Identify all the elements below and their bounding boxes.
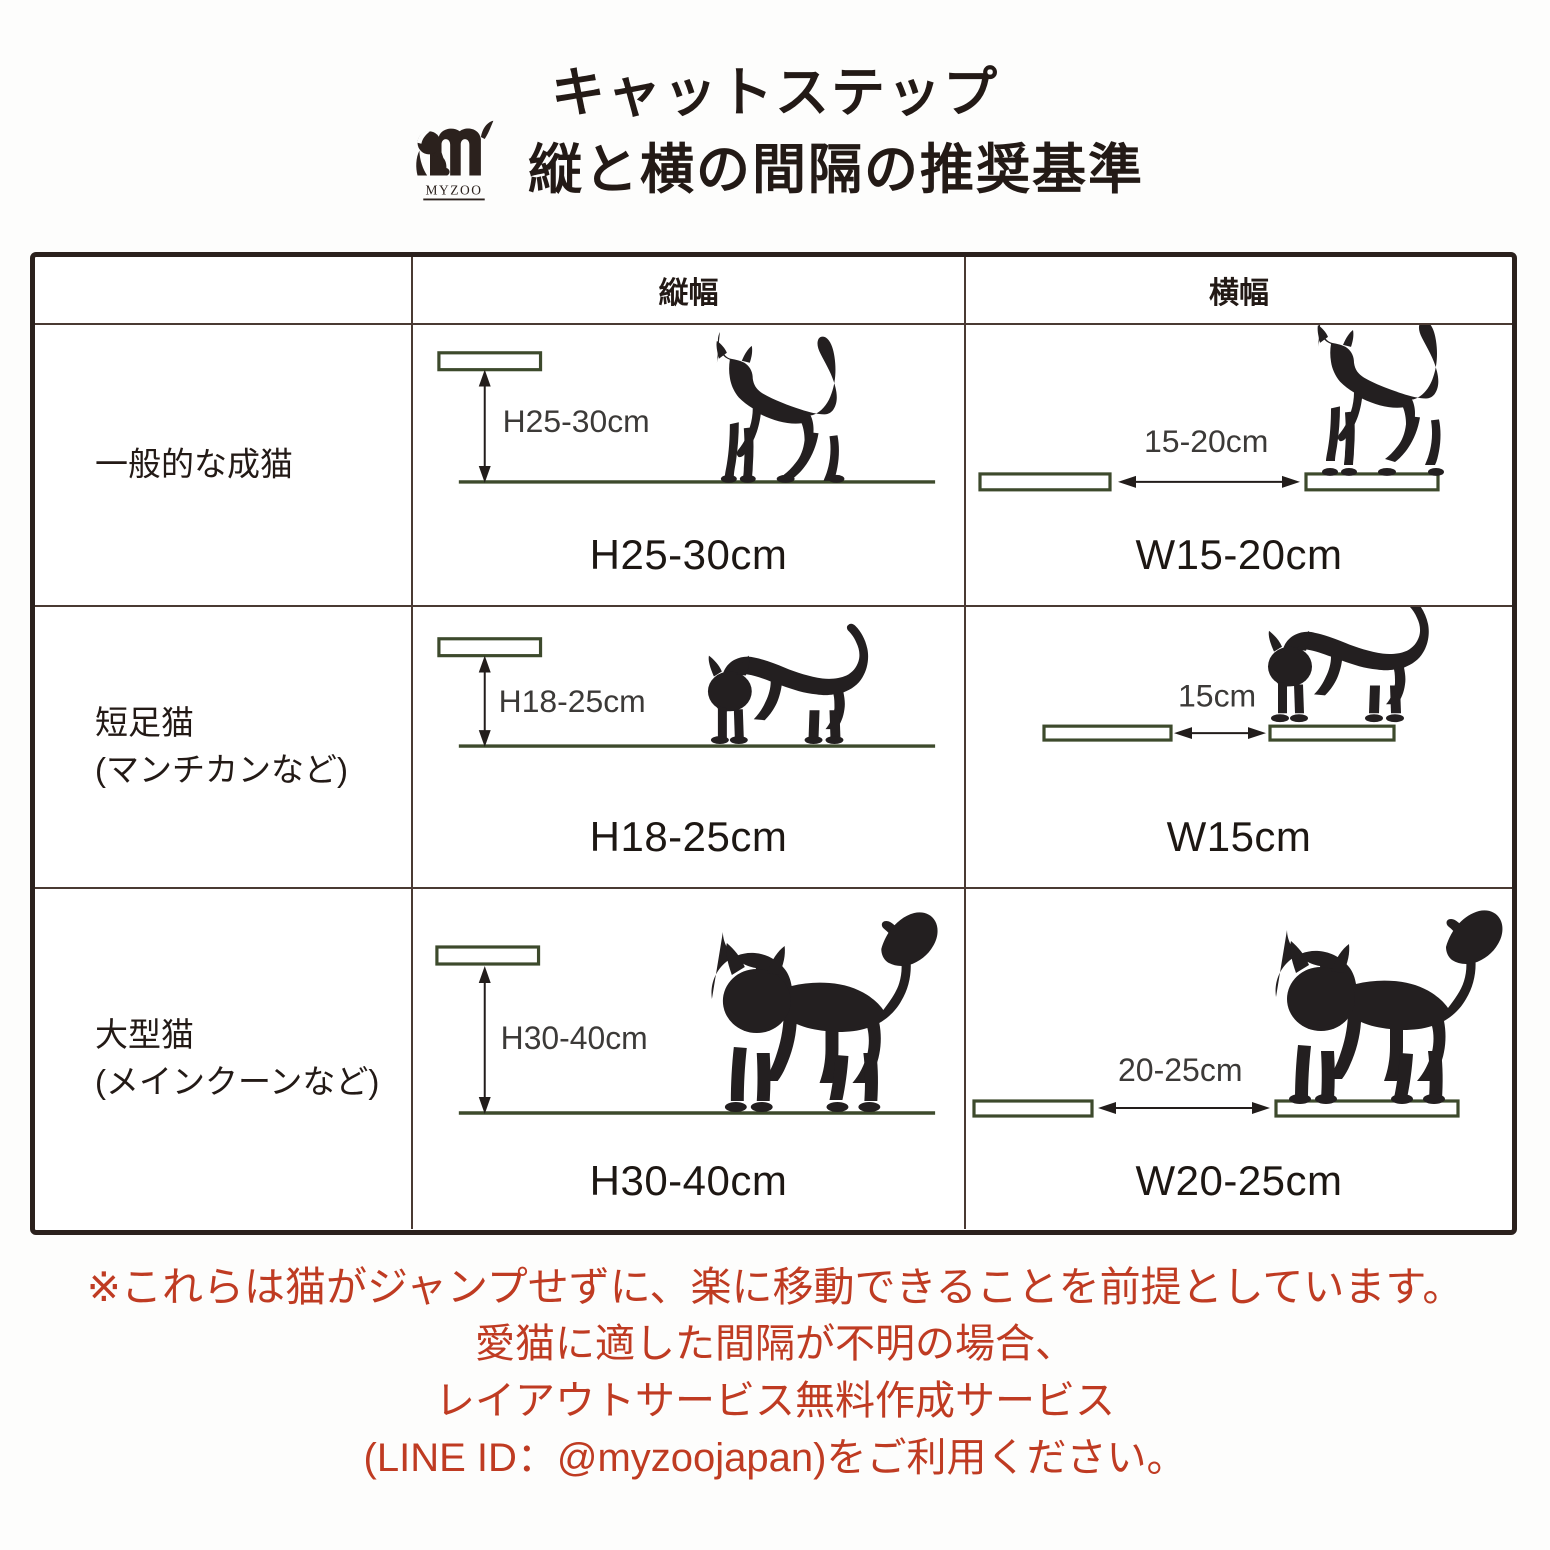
- header-label-vertical: 縦幅: [413, 257, 964, 323]
- svg-text:MYZOO: MYZOO: [426, 183, 483, 198]
- row-label-cell-3: 大型猫 (メインクーンなど): [35, 889, 413, 1229]
- horizontal-diagram-cell-3: 20-25cm W20-25cm: [966, 889, 1512, 1229]
- footer-note-line2: 愛猫に適した間隔が不明の場合、: [0, 1316, 1550, 1373]
- horizontal-caption-1: W15-20cm: [966, 531, 1512, 579]
- header-label-horizontal: 横幅: [966, 257, 1512, 323]
- recommendation-table: 縦幅 横幅 一般的な成猫: [30, 252, 1517, 1235]
- svg-text:H25-30cm: H25-30cm: [503, 403, 650, 439]
- header-cell-blank: [35, 257, 413, 323]
- svg-text:15cm: 15cm: [1178, 677, 1256, 713]
- svg-text:20-25cm: 20-25cm: [1118, 1052, 1243, 1088]
- footer-note-line4: (LINE ID：@myzoojapan)をご利用ください。: [0, 1430, 1550, 1487]
- svg-text:H18-25cm: H18-25cm: [499, 683, 646, 719]
- table-row: 大型猫 (メインクーンなど): [35, 889, 1512, 1229]
- horizontal-caption-3: W20-25cm: [966, 1157, 1512, 1205]
- footer-note-line3: レイアウトサービス無料作成サービス: [0, 1373, 1550, 1430]
- horizontal-diagram-cell-1: 15-20cm W15-20cm: [966, 325, 1512, 605]
- header: キャットステップ MYZOO 縦と横の間隔の推奨基準: [0, 0, 1550, 240]
- row-label-2: 短足猫 (マンチカンなど): [95, 700, 348, 794]
- horizontal-caption-2: W15cm: [966, 813, 1512, 861]
- row-label-cell-2: 短足猫 (マンチカンなど): [35, 607, 413, 887]
- page-title-line2: 縦と横の間隔の推奨基準: [528, 125, 1144, 204]
- row-label-3: 大型猫 (メインクーンなど): [95, 1012, 379, 1106]
- vertical-diagram-cell-1: H25-30cm H25-30cm: [413, 325, 966, 605]
- table-row: 短足猫 (マンチカンなど): [35, 607, 1512, 889]
- header-cell-horizontal: 横幅: [966, 257, 1512, 323]
- page-title-line1: キャットステップ: [0, 48, 1550, 127]
- footer-note-line1: ※これらは猫がジャンプせずに、楽に移動できることを前提としています。: [0, 1258, 1550, 1316]
- myzoo-logo: MYZOO: [406, 114, 502, 210]
- table-header-row: 縦幅 横幅: [35, 257, 1512, 325]
- horizontal-diagram-cell-2: 15cm W15cm: [966, 607, 1512, 887]
- vertical-diagram-cell-2: H18-25cm H18-25cm: [413, 607, 966, 887]
- header-cell-vertical: 縦幅: [413, 257, 966, 323]
- table-row: 一般的な成猫: [35, 325, 1512, 607]
- title-row: MYZOO 縦と横の間隔の推奨基準: [0, 118, 1550, 210]
- svg-text:15-20cm: 15-20cm: [1144, 423, 1268, 459]
- svg-text:H30-40cm: H30-40cm: [501, 1020, 648, 1056]
- footer-note: ※これらは猫がジャンプせずに、楽に移動できることを前提としています。 愛猫に適し…: [0, 1258, 1550, 1487]
- vertical-diagram-cell-3: H30-40cm H30-40cm: [413, 889, 966, 1229]
- vertical-caption-2: H18-25cm: [413, 813, 964, 861]
- vertical-caption-1: H25-30cm: [413, 531, 964, 579]
- row-label-1: 一般的な成猫: [95, 442, 293, 489]
- row-label-cell-1: 一般的な成猫: [35, 325, 413, 605]
- vertical-caption-3: H30-40cm: [413, 1157, 964, 1205]
